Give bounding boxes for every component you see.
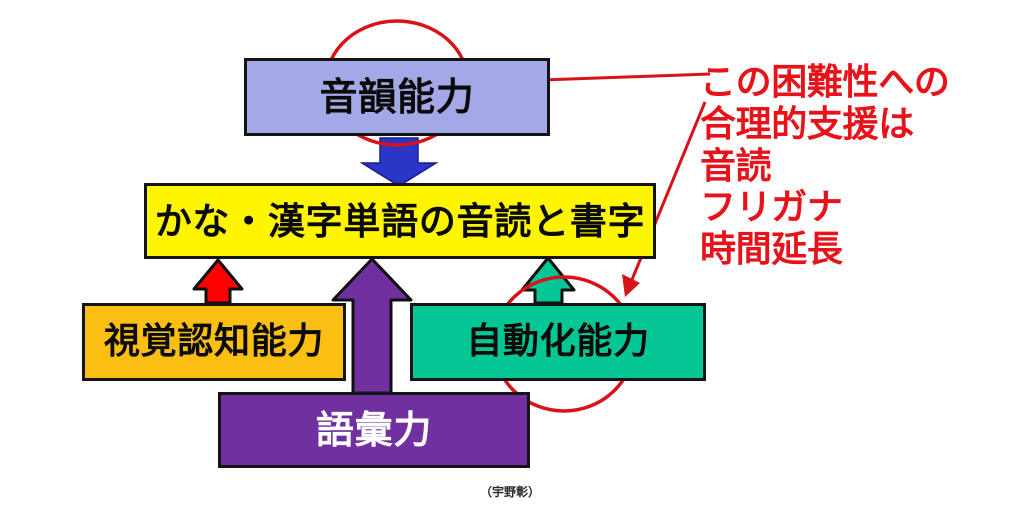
node-label: 音韻能力 [319,78,474,116]
node-phonological-ability[interactable]: 音韻能力 [244,58,550,136]
annotation-line-1: この困難性への [700,62,949,104]
node-label: 語彙力 [316,411,432,449]
node-label: かな・漢字単語の音読と書字 [155,203,646,240]
annotation-line-4: フリガナ [700,187,949,229]
node-label: 自動化能力 [466,324,650,360]
arrow-visual-to-reading [194,260,242,303]
annotation-line-5: 時間延長 [700,229,949,271]
node-label: 視覚認知能力 [104,324,324,360]
annotation-line-3: 音読 [700,146,949,188]
node-automatization-ability[interactable]: 自動化能力 [410,303,706,381]
source-credit: （宇野彰） [480,483,540,500]
node-vocabulary-ability[interactable]: 語彙力 [218,392,530,468]
arrow-automatization-to-reading [522,258,574,303]
arrow-phonological-to-reading [362,138,436,186]
diagram-canvas: 音韻能力 かな・漢字単語の音読と書字 視覚認知能力 自動化能力 語彙力 この困難… [0,0,1024,517]
node-kana-kanji-reading-writing[interactable]: かな・漢字単語の音読と書字 [144,183,656,259]
node-visual-cognition-ability[interactable]: 視覚認知能力 [82,303,346,381]
annotation-text-block: この困難性への 合理的支援は 音読 フリガナ 時間延長 [700,62,949,271]
annotation-line-2: 合理的支援は [700,104,949,146]
